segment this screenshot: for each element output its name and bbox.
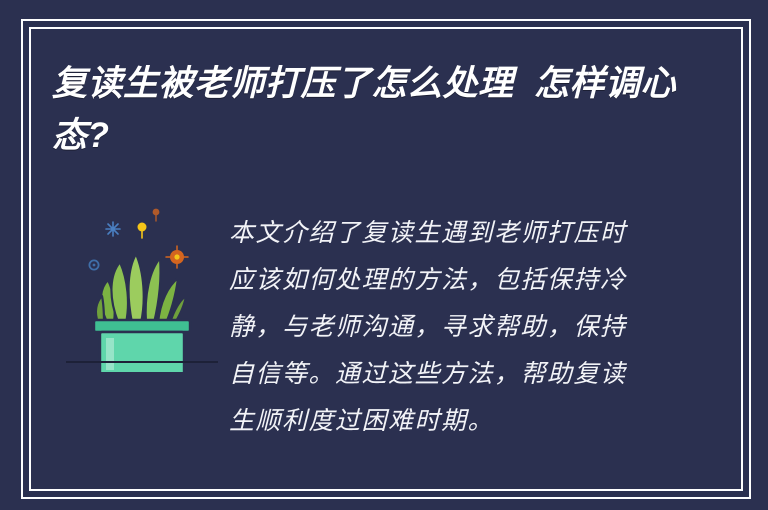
page-title: 复读生被老师打压了怎么处理 怎样调心态? (52, 58, 692, 162)
plant-pot (94, 320, 190, 372)
article-summary-text: 本文介绍了复读生遇到老师打压时应该如何处理的方法，包括保持冷静，与老师沟通，寻求… (229, 209, 651, 444)
dot-yellow-icon (138, 223, 147, 239)
circle-blue-outline-icon (89, 260, 98, 269)
flower-orange-icon (166, 246, 188, 268)
dot-orange-small-icon (153, 209, 160, 221)
article-cover-card: 复读生被老师打压了怎么处理 怎样调心态? (0, 0, 768, 510)
potted-plant-illustration (62, 192, 222, 372)
plant-leaves (96, 254, 186, 323)
snowflake-spark-blue-icon (106, 222, 120, 236)
